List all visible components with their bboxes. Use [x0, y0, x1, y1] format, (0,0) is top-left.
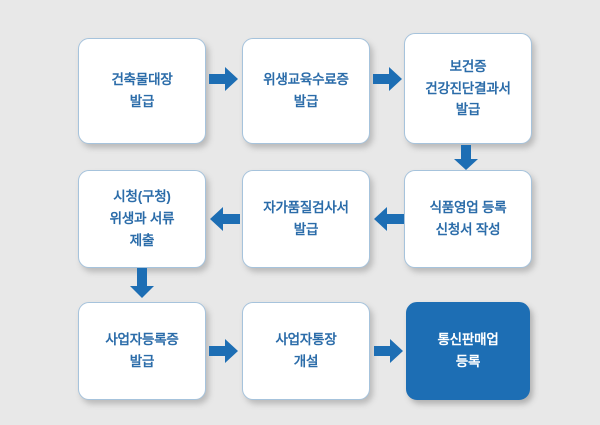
node-label-line: 발급	[294, 219, 318, 241]
node-label-line: 건축물대장	[111, 69, 172, 91]
node-label-line: 발급	[130, 351, 154, 373]
node-label-line: 보건증	[450, 56, 487, 78]
node-label-line: 제출	[130, 230, 154, 252]
node-label-line: 자가품질검사서	[263, 197, 349, 219]
node-hygiene-education[interactable]: 위생교육수료증 발급	[242, 38, 370, 144]
node-self-quality-inspection[interactable]: 자가품질검사서 발급	[242, 170, 370, 268]
node-label-line: 사업자통장	[275, 329, 336, 351]
node-label-line: 위생과 서류	[110, 208, 175, 230]
node-label-line: 시청(구청)	[113, 186, 170, 208]
node-label-line: 개설	[294, 351, 318, 373]
arrow-right-icon	[374, 338, 404, 364]
node-city-hall-submission[interactable]: 시청(구청) 위생과 서류 제출	[78, 170, 206, 268]
node-label-line: 식품영업 등록	[430, 197, 507, 219]
node-label-line: 발급	[130, 91, 154, 113]
node-label-line: 건강진단결과서	[425, 78, 511, 100]
node-label-line: 통신판매업	[437, 329, 498, 351]
flowchart-canvas: 건축물대장 발급 위생교육수료증 발급 보건증 건강진단결과서 발급 식품영업 …	[0, 0, 600, 425]
node-business-registration[interactable]: 사업자등록증 발급	[78, 302, 206, 400]
node-label-line: 사업자등록증	[105, 329, 178, 351]
node-health-certificate[interactable]: 보건증 건강진단결과서 발급	[404, 33, 532, 144]
node-label-line: 발급	[456, 99, 480, 121]
arrow-right-icon	[209, 338, 239, 364]
node-business-bank-account[interactable]: 사업자통장 개설	[242, 302, 370, 400]
arrow-down-icon	[453, 145, 479, 171]
node-label-line: 발급	[294, 91, 318, 113]
node-label-line: 위생교육수료증	[263, 69, 349, 91]
node-telecom-sales-registration[interactable]: 통신판매업 등록	[406, 302, 530, 400]
arrow-down-icon	[129, 268, 155, 299]
arrow-right-icon	[209, 66, 239, 92]
arrow-right-icon	[373, 66, 403, 92]
node-food-business-application[interactable]: 식품영업 등록 신청서 작성	[404, 170, 532, 268]
arrow-left-icon	[373, 206, 404, 232]
node-building-ledger[interactable]: 건축물대장 발급	[78, 38, 206, 144]
arrow-left-icon	[209, 206, 240, 232]
node-label-line: 신청서 작성	[436, 219, 501, 241]
node-label-line: 등록	[456, 351, 480, 373]
